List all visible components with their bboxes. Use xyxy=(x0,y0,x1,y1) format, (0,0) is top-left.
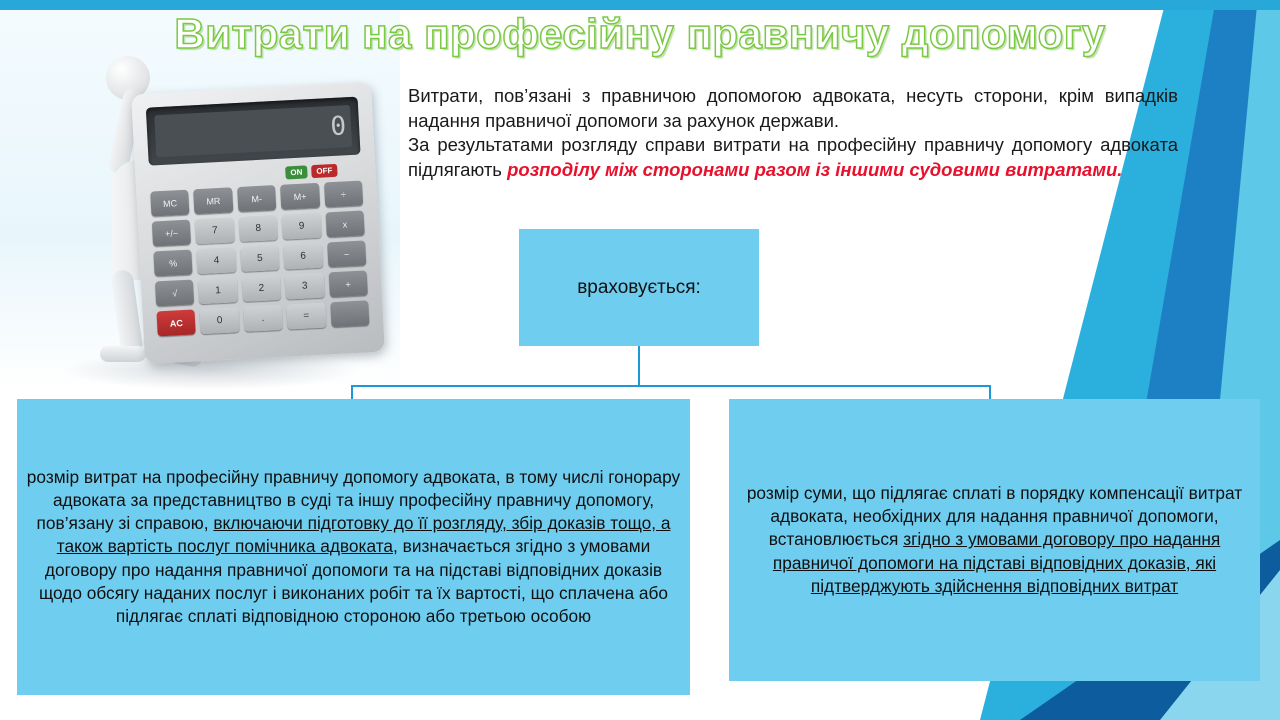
body-paragraph-1: Витрати, пов’язані з правничою допомогою… xyxy=(408,84,1178,133)
calculator-key: 2 xyxy=(242,275,282,302)
calculator-key: ÷ xyxy=(324,181,364,208)
calculator-keypad: MC MR M- M+ ÷ +/− 7 8 9 x % 4 5 6 − √ 1 … xyxy=(150,181,369,337)
calculator-off-button: OFF xyxy=(311,164,338,178)
calculator-key: 5 xyxy=(240,245,280,272)
calculator-screen-inner: 0 xyxy=(154,105,352,157)
calculator-on-button: ON xyxy=(285,165,308,179)
calculator-key: % xyxy=(153,250,193,277)
calculator-key: √ xyxy=(155,279,195,306)
calculator-key: 3 xyxy=(285,273,325,300)
mascot-foot-left xyxy=(100,346,146,362)
flow-node-top-label: враховується: xyxy=(577,277,701,299)
calculator-key: − xyxy=(327,240,367,267)
calculator-device: 0 ON OFF MC MR M- M+ ÷ +/− 7 8 9 x % 4 5… xyxy=(131,82,385,364)
calculator-key: +/− xyxy=(152,220,192,247)
calculator-key: . xyxy=(243,305,283,332)
flow-node-top: враховується: xyxy=(519,229,759,346)
calculator-power-buttons: ON OFF xyxy=(285,164,338,180)
calculator-key xyxy=(330,300,370,327)
calculator-illustration: 0 ON OFF MC MR M- M+ ÷ +/− 7 8 9 x % 4 5… xyxy=(20,30,410,390)
calculator-key: + xyxy=(328,270,368,297)
body-text-block: Витрати, пов’язані з правничою допомогою… xyxy=(408,84,1178,182)
flow-node-left: розмір витрат на професійну правничу доп… xyxy=(17,399,690,695)
flow-node-right: розмір суми, що підлягає сплаті в порядк… xyxy=(729,399,1260,681)
calculator-display-value: 0 xyxy=(330,111,346,142)
calculator-key-clear: AC xyxy=(156,309,196,336)
connector-vertical-left xyxy=(351,385,353,400)
body-paragraph-2-emphasis: розподілу між сторонами разом із іншими … xyxy=(507,159,1122,180)
connector-vertical-right xyxy=(989,385,991,400)
mascot-leg-left xyxy=(110,269,144,357)
calculator-key: MR xyxy=(194,187,234,214)
calculator-key: 6 xyxy=(283,243,323,270)
calculator-key: x xyxy=(325,210,365,237)
calculator-key: 4 xyxy=(197,247,237,274)
calculator-key: 1 xyxy=(198,277,238,304)
flow-node-right-text: розмір суми, що підлягає сплаті в порядк… xyxy=(741,482,1248,598)
calculator-key: M- xyxy=(237,185,277,212)
calculator-screen: 0 xyxy=(146,97,361,166)
body-paragraph-2: За результатами розгляду справи витрати … xyxy=(408,133,1178,182)
calculator-key: 0 xyxy=(200,307,240,334)
background-top-band xyxy=(0,0,1280,10)
calculator-key: 8 xyxy=(238,215,278,242)
calculator-key: M+ xyxy=(280,183,320,210)
flow-node-left-text: розмір витрат на професійну правничу доп… xyxy=(25,466,682,628)
connector-vertical-top xyxy=(638,346,640,386)
calculator-key: = xyxy=(286,303,326,330)
slide-title: Витрати на професійну правничу допомогу xyxy=(0,10,1280,58)
calculator-key: MC xyxy=(150,190,190,217)
connector-horizontal xyxy=(351,385,991,387)
calculator-key: 7 xyxy=(195,217,235,244)
calculator-key: 9 xyxy=(282,213,322,240)
